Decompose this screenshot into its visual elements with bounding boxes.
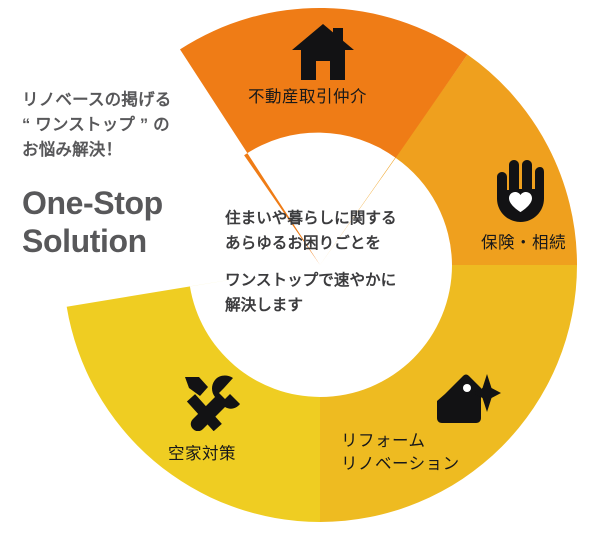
headline-line-1: One-Stop — [22, 185, 237, 223]
lead-line-1: リノベースの掲げる — [22, 88, 237, 113]
segment-label-reform-line-2: リノベーション — [341, 453, 460, 476]
center-paragraph-gap — [225, 256, 440, 269]
segment-label-insurance: 保険・相続 — [481, 232, 566, 255]
center-line-3: ワンストップで速やかに — [225, 269, 440, 294]
house-icon — [292, 24, 354, 80]
segment-label-vacant: 空家対策 — [168, 443, 236, 466]
center-line-2: あらゆるお困りごとを — [225, 232, 440, 257]
hand-heart-icon — [497, 160, 544, 222]
segment-label-brokerage: 不動産取引仲介 — [248, 86, 367, 109]
infographic-canvas: リノベースの掲げる “ ワンストップ ” の お悩み解決！ One-Stop S… — [0, 0, 600, 533]
hammer-wrench-icon — [179, 375, 241, 431]
segment-label-reform-line-1: リフォーム — [341, 430, 460, 453]
center-line-1: 住まいや暮らしに関する — [225, 207, 440, 232]
page-title: One-Stop Solution — [22, 185, 237, 261]
segment-label-reform: リフォーム リノベーション — [341, 430, 460, 476]
left-heading-block: リノベースの掲げる “ ワンストップ ” の お悩み解決！ One-Stop S… — [22, 88, 237, 261]
house-sparkle-icon — [437, 374, 501, 424]
headline-line-2: Solution — [22, 223, 237, 261]
lead-line-2: “ ワンストップ ” の — [22, 113, 237, 138]
center-line-4: 解決します — [225, 294, 440, 319]
center-description: 住まいや暮らしに関する あらゆるお困りごとを ワンストップで速やかに 解決します — [225, 207, 440, 319]
lead-line-3: お悩み解決！ — [22, 138, 237, 163]
